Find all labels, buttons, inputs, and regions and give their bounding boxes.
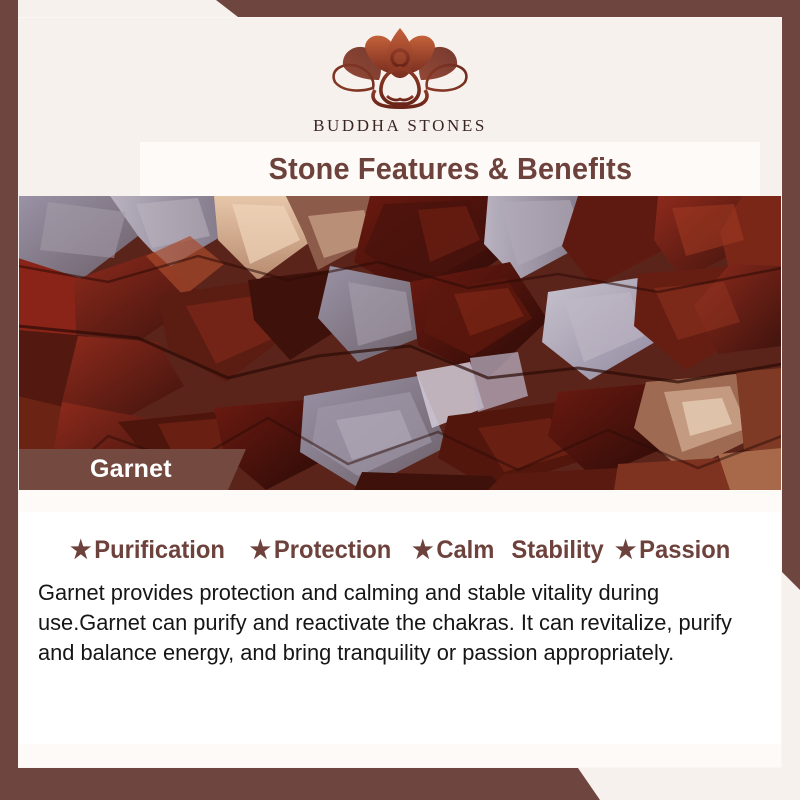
star-icon: ★ — [413, 538, 434, 563]
brand-logo: BUDDHA STONES — [313, 26, 487, 136]
keyword-stability: Stability — [509, 536, 604, 565]
title-band: Stone Features & Benefits — [140, 142, 760, 196]
keyword-protection: ★Protection — [250, 536, 392, 565]
page-title: Stone Features & Benefits — [268, 151, 632, 187]
keyword-label: Stability — [511, 536, 603, 565]
star-icon: ★ — [615, 538, 636, 563]
keyword-label: Calm — [437, 536, 495, 565]
garnet-photo — [18, 196, 782, 490]
keyword-calm: ★Calm — [413, 536, 495, 565]
infographic-page: BUDDHA STONES Stone Features & Benefits … — [0, 0, 800, 800]
star-icon: ★ — [250, 538, 271, 563]
brand-name: BUDDHA STONES — [313, 116, 487, 136]
frame-right-border — [782, 0, 800, 590]
keyword-label: Passion — [639, 536, 730, 565]
frame-top-accent — [0, 0, 800, 17]
frame-bottom-accent — [0, 768, 800, 800]
keyword-label: Protection — [274, 536, 391, 565]
keyword-purification: ★Purification — [71, 536, 226, 565]
brand-header: BUDDHA STONES — [18, 17, 782, 145]
stone-description-text: Garnet provides protection and calming a… — [38, 578, 733, 668]
frame-left-border — [0, 0, 18, 800]
keyword-passion: ★Passion — [615, 536, 730, 565]
stone-name-banner: Garnet — [18, 449, 246, 490]
benefit-keywords-row: ★Purification ★Protection ★Calm Stabilit… — [19, 530, 781, 570]
lotus-meditation-icon — [327, 26, 473, 112]
star-icon: ★ — [71, 538, 92, 563]
stone-name-label: Garnet — [90, 455, 172, 484]
stone-description: Garnet provides protection and calming a… — [38, 578, 733, 668]
garnet-photo-illustration — [18, 196, 782, 490]
keyword-label: Purification — [95, 536, 226, 565]
